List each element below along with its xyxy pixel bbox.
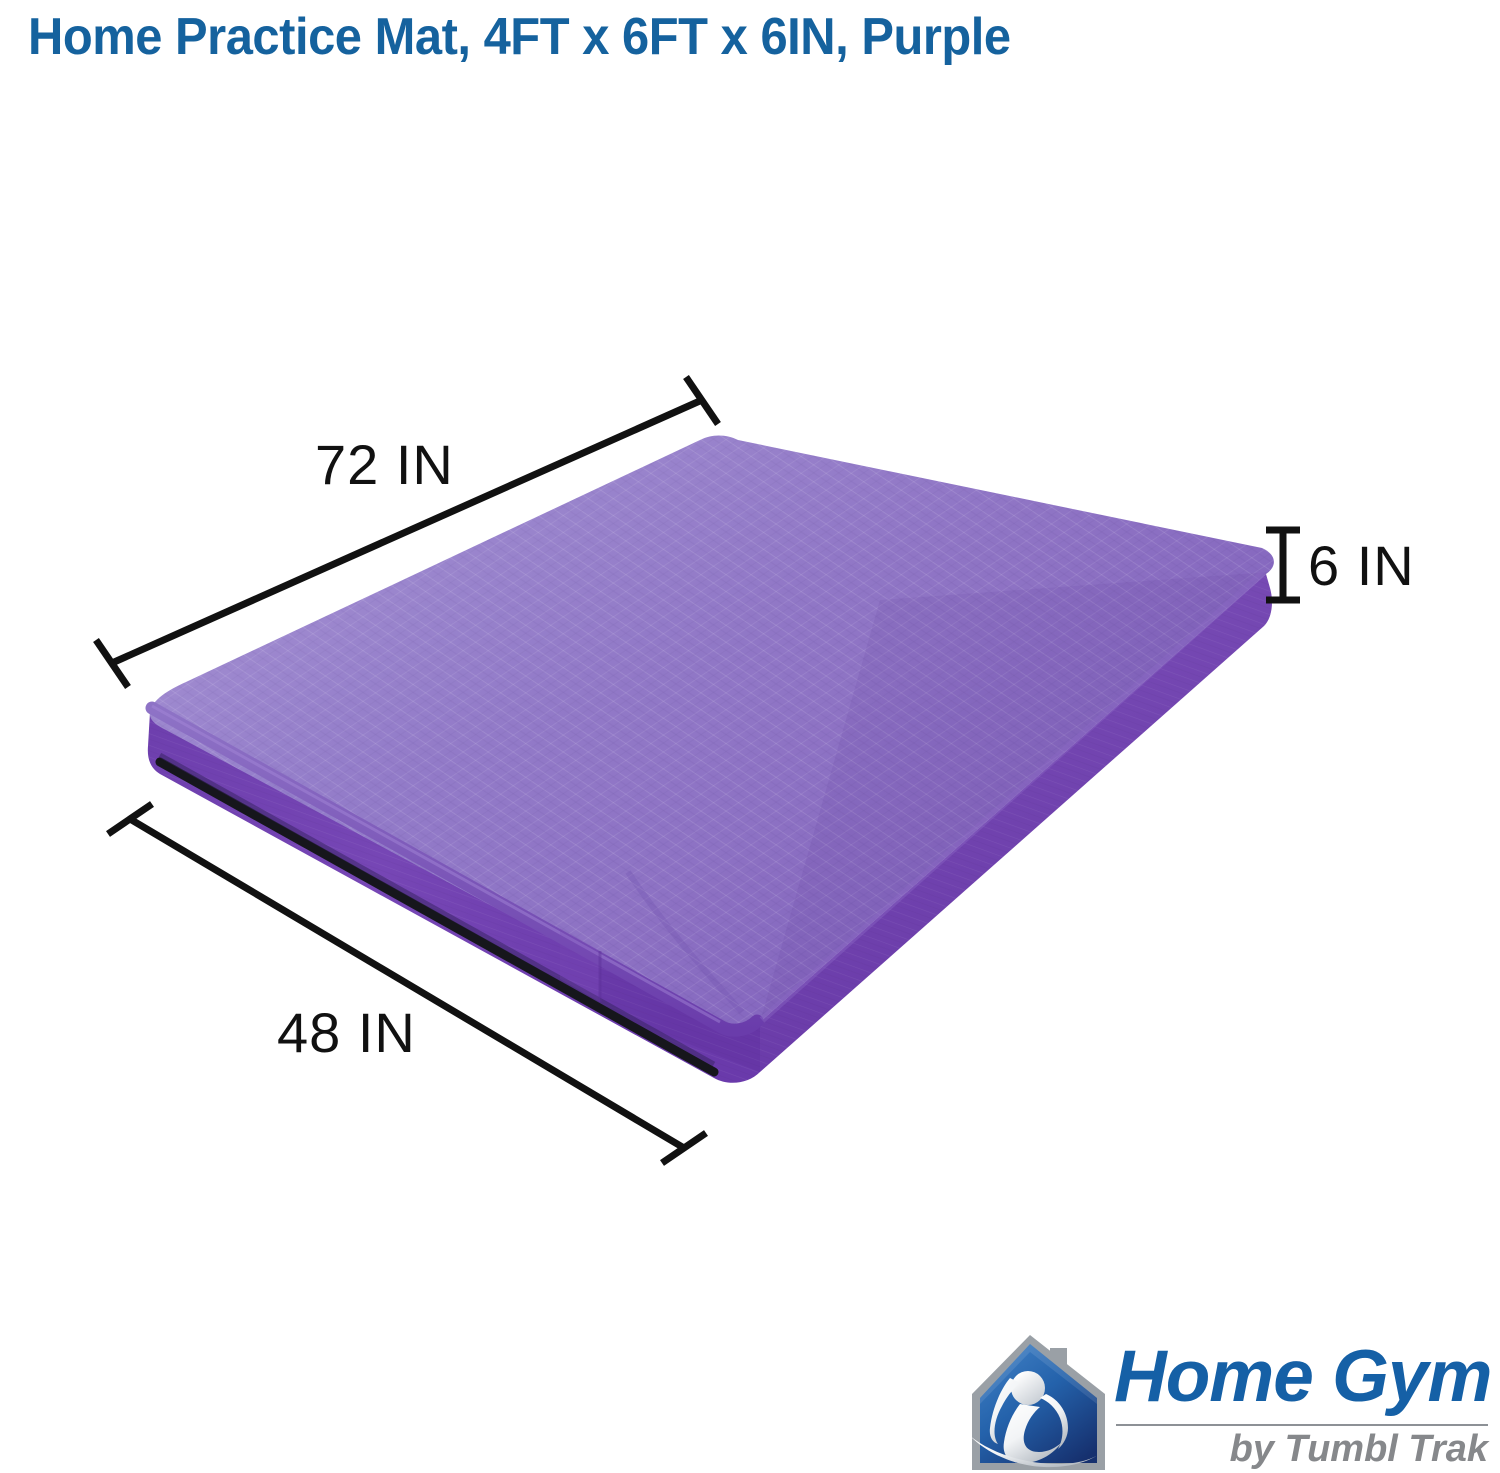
dimension-label-length: 72 IN [315,437,454,493]
logo-byline-text: by Tumbl Trak [1230,1427,1488,1471]
product-image-canvas: Home Practice Mat, 4FT x 6FT x 6IN, Purp… [0,0,1500,1473]
product-illustration: 72 IN 48 IN 6 IN [0,0,1500,1473]
brand-logo: Home Gym by Tumbl Trak [962,1332,1490,1473]
logo-wordmark: Home Gym by Tumbl Trak [1114,1332,1490,1473]
logo-brand-text: Home Gym [1114,1336,1491,1418]
dimension-label-width: 48 IN [277,1005,416,1061]
house-with-figure-icon [962,1332,1110,1473]
mat-diagram [0,0,1500,1473]
logo-divider [1116,1424,1488,1426]
mat-body [120,420,1300,1100]
dimension-label-thickness: 6 IN [1308,538,1415,594]
